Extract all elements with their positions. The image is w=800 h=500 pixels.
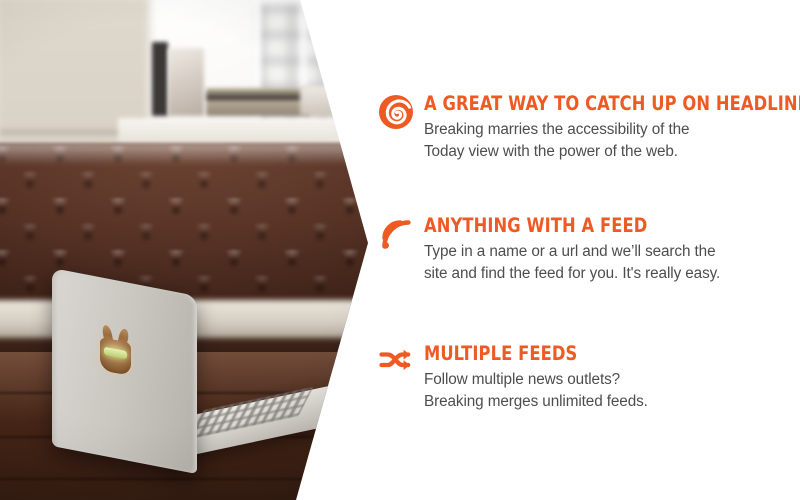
feature-item-multiple-feeds: MULTIPLE FEEDS Follow multiple news outl… — [378, 344, 648, 412]
feature-text: A GREAT WAY TO CATCH UP ON HEADLINES Bre… — [424, 94, 800, 162]
feature-item-headlines: A GREAT WAY TO CATCH UP ON HEADLINES Bre… — [378, 94, 800, 162]
feature-text: ANYTHING WITH A FEED Type in a name or a… — [424, 216, 720, 284]
feature-item-any-feed: ANYTHING WITH A FEED Type in a name or a… — [378, 216, 720, 284]
feature-body: Follow multiple news outlets? Breaking m… — [424, 369, 648, 411]
feature-title: A GREAT WAY TO CATCH UP ON HEADLINES — [424, 94, 800, 114]
feature-body: Breaking marries the accessibility of th… — [424, 119, 800, 161]
feature-body: Type in a name or a url and we’ll search… — [424, 241, 720, 283]
wave-swirl-icon — [378, 94, 414, 130]
shuffle-arrows-icon — [378, 344, 414, 380]
feature-list: A GREAT WAY TO CATCH UP ON HEADLINES Bre… — [0, 0, 800, 500]
rss-feed-icon — [378, 216, 414, 252]
feature-title: ANYTHING WITH A FEED — [424, 216, 699, 236]
feature-text: MULTIPLE FEEDS Follow multiple news outl… — [424, 344, 648, 412]
promo-slide: A GREAT WAY TO CATCH UP ON HEADLINES Bre… — [0, 0, 800, 500]
feature-title: MULTIPLE FEEDS — [424, 344, 632, 364]
